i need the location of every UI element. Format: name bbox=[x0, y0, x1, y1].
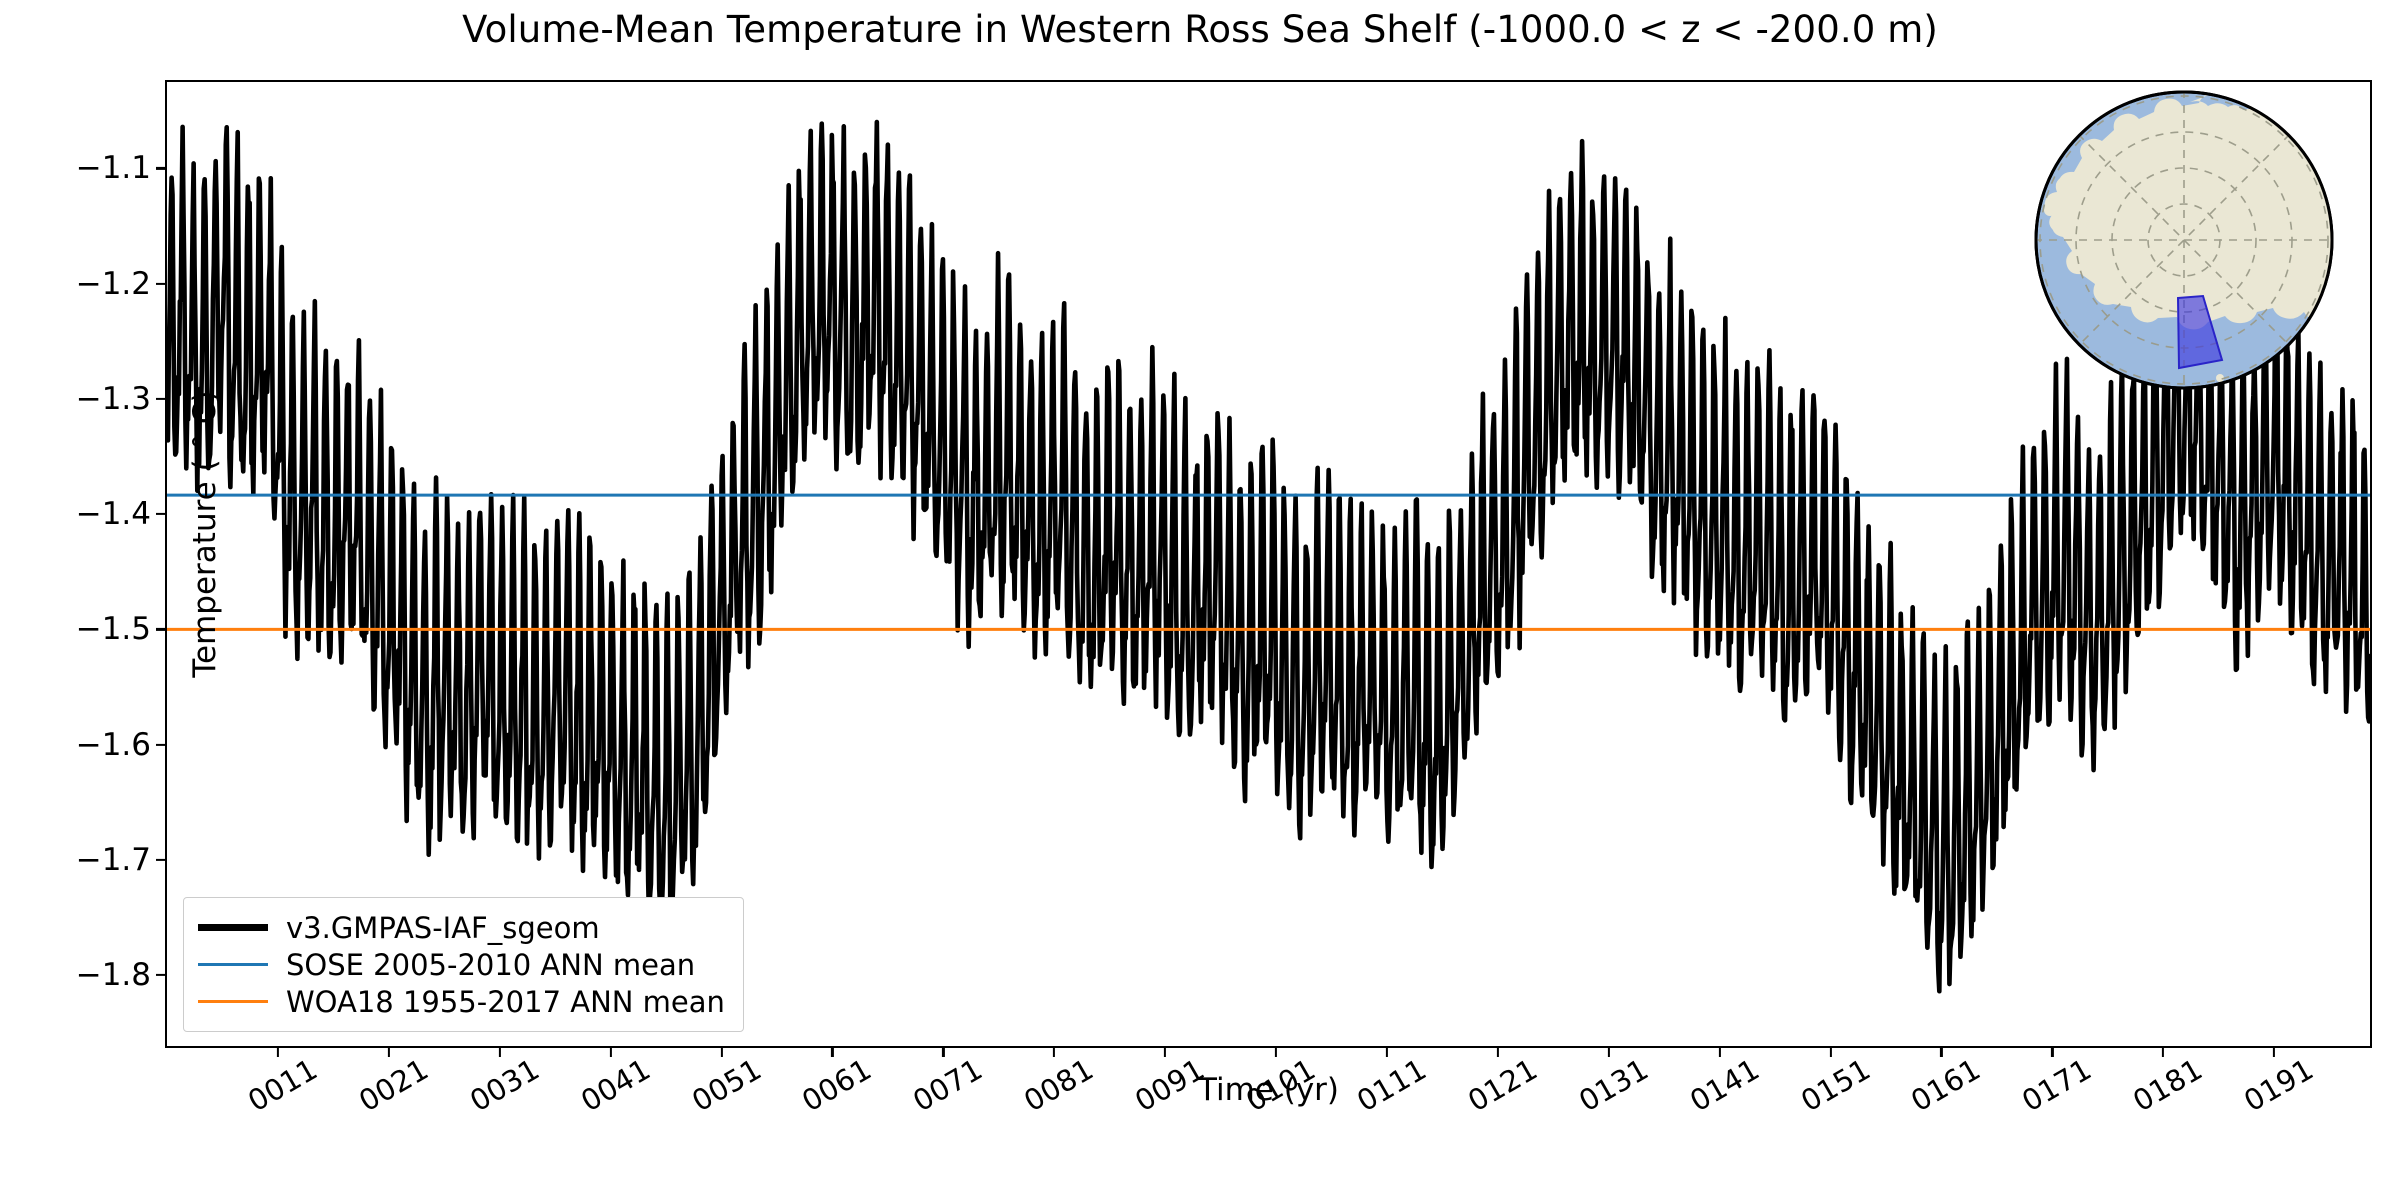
y-tick-mark bbox=[156, 513, 167, 515]
x-tick-mark bbox=[2051, 1046, 2053, 1057]
plot-area: −1.1−1.2−1.3−1.4−1.5−1.6−1.7−1.8 0011002… bbox=[165, 80, 2372, 1048]
y-tick-mark bbox=[156, 628, 167, 630]
y-tick-mark bbox=[156, 974, 167, 976]
legend-label: SOSE 2005-2010 ANN mean bbox=[286, 948, 695, 982]
y-tick-label: −1.4 bbox=[76, 496, 167, 532]
legend-item[interactable]: v3.GMPAS-IAF_sgeom bbox=[198, 909, 725, 946]
x-tick-mark bbox=[942, 1046, 944, 1057]
legend-swatch bbox=[198, 963, 268, 966]
y-tick-mark bbox=[156, 744, 167, 746]
y-tick-mark bbox=[156, 167, 167, 169]
x-axis-label: Time (yr) bbox=[165, 1072, 2372, 1108]
map-svg bbox=[2004, 60, 2364, 420]
x-tick-mark bbox=[1608, 1046, 1610, 1057]
legend: v3.GMPAS-IAF_sgeomSOSE 2005-2010 ANN mea… bbox=[183, 897, 744, 1032]
x-tick-mark bbox=[499, 1046, 501, 1057]
x-tick-mark bbox=[388, 1046, 390, 1057]
y-tick-mark bbox=[156, 859, 167, 861]
x-tick-mark bbox=[277, 1046, 279, 1057]
y-tick-label: −1.7 bbox=[76, 842, 167, 878]
x-tick-mark bbox=[1719, 1046, 1721, 1057]
y-tick-label: −1.1 bbox=[76, 150, 167, 186]
x-tick-mark bbox=[1275, 1046, 1277, 1057]
legend-label: v3.GMPAS-IAF_sgeom bbox=[286, 911, 600, 945]
x-tick-mark bbox=[610, 1046, 612, 1057]
y-tick-label: −1.8 bbox=[76, 957, 167, 993]
x-tick-mark bbox=[831, 1046, 833, 1057]
y-tick-label: −1.6 bbox=[76, 727, 167, 763]
x-tick-mark bbox=[2162, 1046, 2164, 1057]
x-tick-mark bbox=[1940, 1046, 1942, 1057]
x-tick-mark bbox=[1164, 1046, 1166, 1057]
y-tick-mark bbox=[156, 283, 167, 285]
y-tick-label: −1.2 bbox=[76, 266, 167, 302]
x-tick-mark bbox=[1829, 1046, 1831, 1057]
x-tick-mark bbox=[1386, 1046, 1388, 1057]
figure-canvas: Volume-Mean Temperature in Western Ross … bbox=[0, 0, 2400, 1200]
legend-swatch bbox=[198, 924, 268, 931]
x-tick-mark bbox=[1053, 1046, 1055, 1057]
legend-item[interactable]: WOA18 1955-2017 ANN mean bbox=[198, 983, 725, 1020]
y-tick-label: −1.5 bbox=[76, 611, 167, 647]
page-title: Volume-Mean Temperature in Western Ross … bbox=[0, 8, 2400, 51]
y-tick-label: −1.3 bbox=[76, 381, 167, 417]
y-axis-label: Temperature ( ° C) bbox=[187, 374, 223, 694]
legend-label: WOA18 1955-2017 ANN mean bbox=[286, 985, 725, 1019]
x-tick-mark bbox=[720, 1046, 722, 1057]
legend-item[interactable]: SOSE 2005-2010 ANN mean bbox=[198, 946, 725, 983]
legend-swatch bbox=[198, 1000, 268, 1003]
x-tick-mark bbox=[1497, 1046, 1499, 1057]
antarctica-inset-map bbox=[2004, 60, 2364, 420]
y-tick-mark bbox=[156, 398, 167, 400]
x-tick-mark bbox=[2273, 1046, 2275, 1057]
